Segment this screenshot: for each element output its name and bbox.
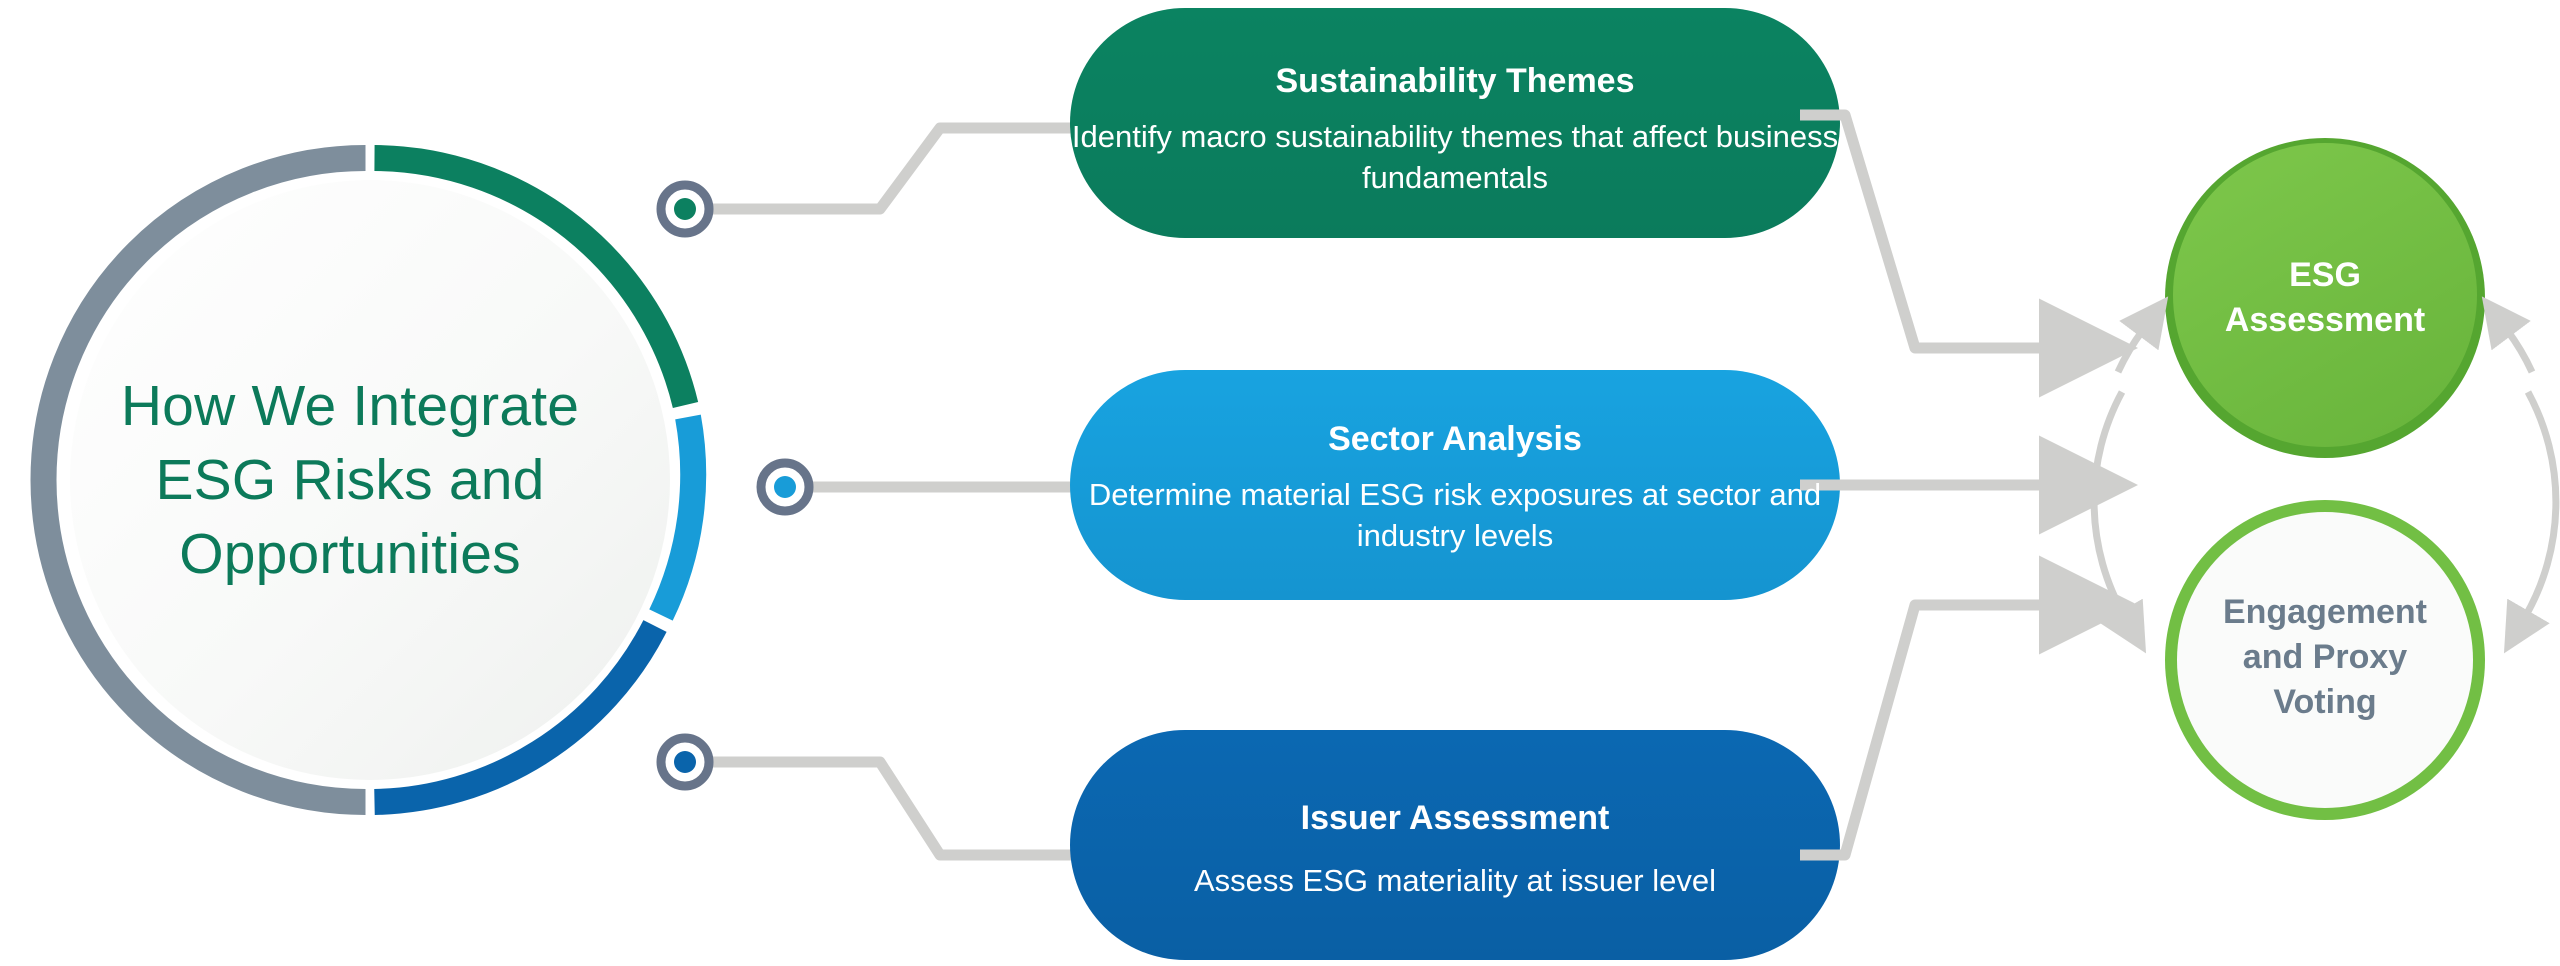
step-card-sector-analysis[interactable] — [1070, 370, 1840, 600]
arrow-issuer-to-engagement — [1800, 605, 2050, 855]
connector-dot-sustainability — [661, 185, 709, 233]
connector-line-issuer — [706, 762, 1104, 855]
outcome-engagement-circle[interactable] — [2165, 500, 2485, 820]
steps-to-outcomes-arrows — [1800, 115, 2050, 855]
connector-dot-sector — [761, 463, 809, 511]
connector-line-sustainability — [706, 128, 1104, 209]
arrow-sustainability-to-esg — [1800, 115, 2050, 348]
diagram-canvas — [0, 0, 2560, 966]
cycle-arrow-left-up — [2118, 330, 2143, 372]
connector-dot-issuer — [661, 738, 709, 786]
esg-integration-diagram: How We Integrate ESG Risks and Opportuni… — [0, 0, 2560, 966]
hub-inner-disc — [70, 180, 670, 780]
outcome-esg-assessment-circle[interactable] — [2165, 138, 2485, 458]
cycle-arrow-left-down — [2094, 392, 2125, 617]
cycle-arrow-right-up — [2507, 330, 2532, 372]
hub-circle — [44, 158, 694, 802]
step-card-issuer-assessment[interactable] — [1070, 730, 1840, 960]
cycle-arrow-right-down — [2525, 392, 2556, 617]
step-card-sustainability-themes[interactable] — [1070, 8, 1840, 238]
